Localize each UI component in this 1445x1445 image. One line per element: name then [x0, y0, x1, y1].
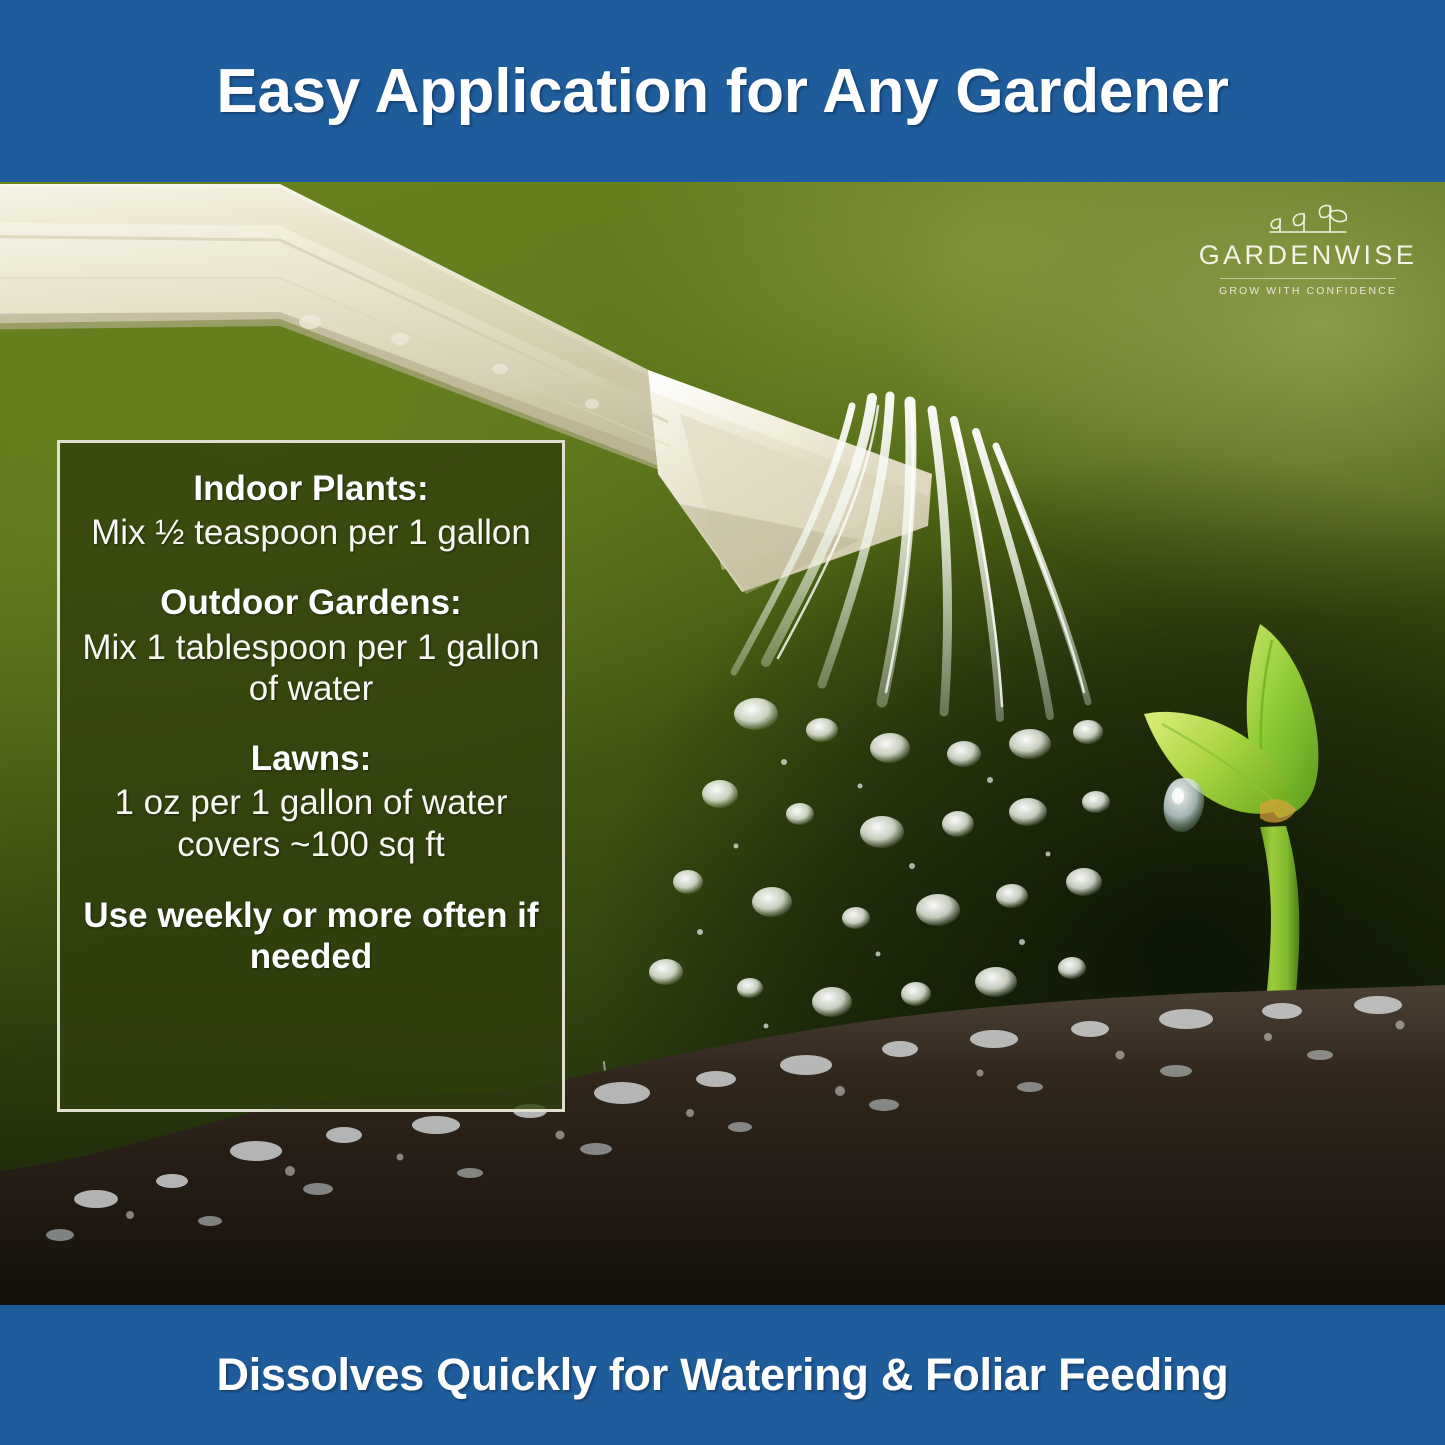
instruction-heading-outdoor: Outdoor Gardens: [82, 583, 540, 622]
instruction-heading-lawns: Lawns: [82, 739, 540, 778]
instruction-group-indoor: Indoor Plants: Mix ½ teaspoon per 1 gall… [82, 469, 540, 553]
instruction-detail-indoor: Mix ½ teaspoon per 1 gallon [82, 512, 540, 553]
logo-tagline: GROW WITH CONFIDENCE [1193, 286, 1423, 297]
product-infographic: Easy Application for Any Gardener [0, 0, 1445, 1445]
instruction-detail-outdoor: Mix 1 tablespoon per 1 gallon of water [82, 627, 540, 710]
instruction-group-frequency: Use weekly or more often if needed [82, 895, 540, 978]
instruction-frequency-note: Use weekly or more often if needed [82, 895, 540, 978]
brand-logo: GARDENWISE GROW WITH CONFIDENCE [1193, 190, 1423, 297]
bottom-banner: Dissolves Quickly for Watering & Foliar … [0, 1305, 1445, 1445]
top-banner-title: Easy Application for Any Gardener [216, 56, 1228, 127]
logo-wordmark: GARDENWISE [1193, 242, 1423, 269]
logo-divider [1220, 278, 1396, 279]
bottom-banner-title: Dissolves Quickly for Watering & Foliar … [217, 1349, 1229, 1401]
application-instructions-box: Indoor Plants: Mix ½ teaspoon per 1 gall… [57, 440, 565, 1112]
three-sprouts-icon [1262, 190, 1354, 238]
product-photo: GARDENWISE GROW WITH CONFIDENCE Indoor P… [0, 182, 1445, 1305]
instruction-heading-indoor: Indoor Plants: [82, 469, 540, 508]
instruction-group-outdoor: Outdoor Gardens: Mix 1 tablespoon per 1 … [82, 583, 540, 709]
instruction-detail-lawns: 1 oz per 1 gallon of water covers ~100 s… [82, 782, 540, 865]
instruction-group-lawns: Lawns: 1 oz per 1 gallon of water covers… [82, 739, 540, 865]
top-banner: Easy Application for Any Gardener [0, 0, 1445, 182]
